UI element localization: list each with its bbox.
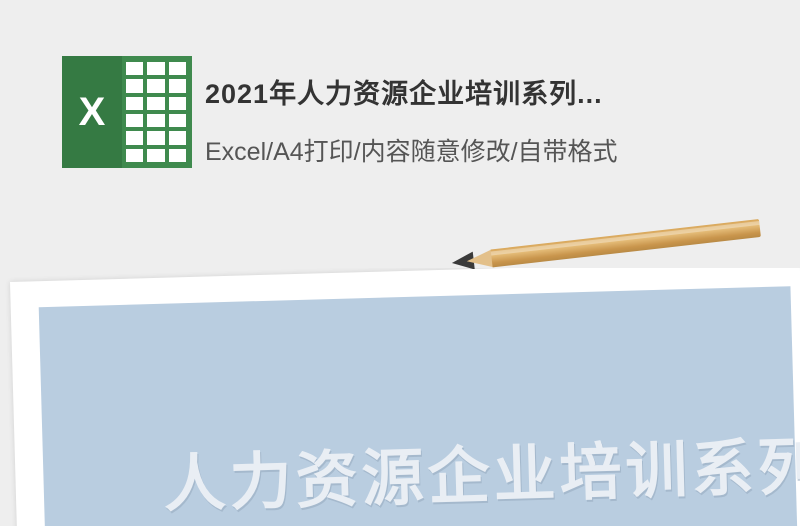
excel-icon-left-panel: X	[62, 56, 122, 168]
excel-icon-cell	[126, 79, 143, 92]
excel-icon-cell	[126, 149, 143, 162]
excel-icon-letter: X	[62, 56, 122, 168]
page-root: X 2021年	[0, 0, 800, 526]
header-section: X 2021年	[0, 0, 800, 258]
excel-icon-cell	[126, 62, 143, 75]
excel-icon-cell	[147, 149, 164, 162]
preview-sheet: 人力资源企业培训系列	[10, 268, 800, 526]
excel-icon-cell	[169, 79, 186, 92]
excel-icon-cell	[126, 114, 143, 127]
excel-icon-cell	[169, 131, 186, 144]
preview-watermark: 人力资源企业培训系列	[162, 414, 800, 524]
page-title: 2021年人力资源企业培训系列...	[205, 72, 765, 111]
excel-icon-grid	[122, 56, 192, 168]
excel-icon-cell	[169, 114, 186, 127]
excel-icon-cell	[169, 62, 186, 75]
excel-icon-cell	[147, 131, 164, 144]
excel-icon-cell	[147, 62, 164, 75]
excel-icon-cell	[169, 149, 186, 162]
document-preview[interactable]: 人力资源企业培训系列	[0, 268, 800, 526]
page-subtitle: Excel/A4打印/内容随意修改/自带格式	[205, 132, 785, 168]
excel-icon-cell	[169, 97, 186, 110]
excel-icon-cell	[147, 97, 164, 110]
excel-icon-cell	[147, 114, 164, 127]
excel-icon-cell	[147, 79, 164, 92]
preview-content-area: 人力资源企业培训系列	[39, 286, 798, 526]
excel-icon-cell	[126, 131, 143, 144]
excel-icon-cell	[126, 97, 143, 110]
excel-icon: X	[62, 56, 192, 168]
